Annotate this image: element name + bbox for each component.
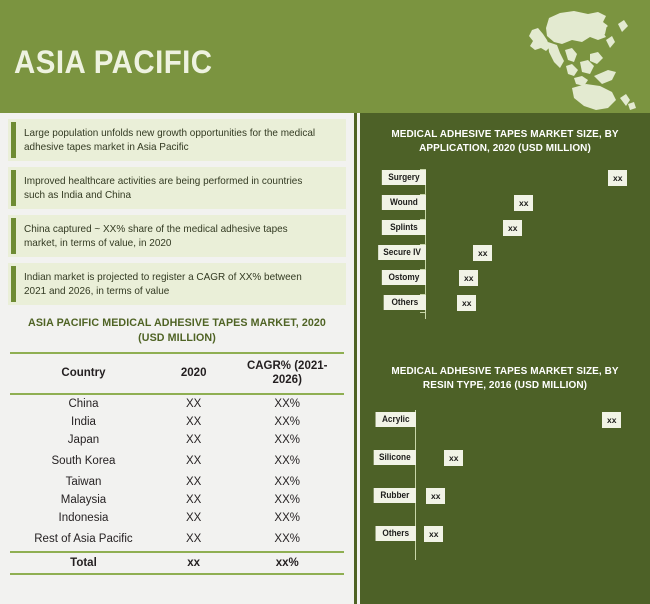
bar-track: xx <box>426 195 640 211</box>
bar-value-label: xx <box>602 412 621 428</box>
column-header-cagr: CAGR% (2021-2026) <box>230 353 344 394</box>
table-row: Malaysia XX XX% <box>10 491 344 509</box>
page-header: ASIA PACIFIC <box>0 0 650 113</box>
cell-2020: XX <box>157 527 230 552</box>
insight-bullet-text: China captured ~ XX% share of the medica… <box>24 222 320 250</box>
chart-by-application-title: MEDICAL ADHESIVE TAPES MARKET SIZE, BY A… <box>367 127 643 155</box>
insight-bullet: Improved healthcare activities are being… <box>8 167 346 209</box>
insight-bullet: China captured ~ XX% share of the medica… <box>8 215 346 257</box>
table-row: Rest of Asia Pacific XX XX% <box>10 527 344 552</box>
bar-row: Splints xx <box>370 219 640 237</box>
cell-cagr: XX% <box>230 431 344 449</box>
bar-category-label: Others <box>384 295 426 310</box>
insight-bullet: Indian market is projected to register a… <box>8 263 346 305</box>
table-row: China XX XX% <box>10 394 344 413</box>
market-table-title: ASIA PACIFIC MEDICAL ADHESIVE TAPES MARK… <box>15 311 339 352</box>
bar-category-label: Surgery <box>382 170 426 185</box>
chart-by-resin-type: MEDICAL ADHESIVE TAPES MARKET SIZE, BY R… <box>360 338 650 560</box>
bar-row: Silicone xx <box>370 448 640 468</box>
bar-value-label: xx <box>473 245 492 261</box>
table-header-row: Country 2020 CAGR% (2021-2026) <box>10 353 344 394</box>
cell-country: Indonesia <box>10 509 157 527</box>
insight-bullet: Large population unfolds new growth oppo… <box>8 119 346 161</box>
bar-track: xx <box>416 526 640 542</box>
table-row: South Korea XX XX% <box>10 449 344 473</box>
bar-row: Others xx <box>370 294 640 312</box>
asia-pacific-map-icon <box>502 4 642 112</box>
insight-bullets: Large population unfolds new growth oppo… <box>0 113 354 305</box>
bar-track: xx <box>426 270 640 286</box>
cell-2020: XX <box>157 473 230 491</box>
cell-total-label: Total <box>10 552 157 574</box>
cell-country: South Korea <box>10 449 157 473</box>
cell-total-cagr: xx% <box>230 552 344 574</box>
bar-row: Rubber xx <box>370 486 640 506</box>
infographic-page: ASIA PACIFIC <box>0 0 650 604</box>
table-row: Taiwan XX XX% <box>10 473 344 491</box>
cell-country: Malaysia <box>10 491 157 509</box>
bar-row: Ostomy xx <box>370 269 640 287</box>
bar-value-label: xx <box>608 170 627 186</box>
bar-category-label: Secure IV <box>378 245 426 260</box>
bar-value-label: xx <box>444 450 463 466</box>
chart-by-resin-type-title: MEDICAL ADHESIVE TAPES MARKET SIZE, BY R… <box>367 364 643 392</box>
cell-cagr: XX% <box>230 491 344 509</box>
insight-bullet-text: Improved healthcare activities are being… <box>24 174 320 202</box>
market-table-section: ASIA PACIFIC MEDICAL ADHESIVE TAPES MARK… <box>0 311 354 575</box>
bar-row: Surgery xx <box>370 169 640 187</box>
right-panel: MEDICAL ADHESIVE TAPES MARKET SIZE, BY A… <box>360 113 650 604</box>
bar-track: xx <box>426 245 640 261</box>
insight-bullet-text: Large population unfolds new growth oppo… <box>24 126 320 154</box>
cell-2020: XX <box>157 509 230 527</box>
cell-country: China <box>10 394 157 413</box>
bar-value-label: xx <box>514 195 533 211</box>
cell-cagr: XX% <box>230 509 344 527</box>
bar-category-label: Others <box>376 526 416 541</box>
cell-2020: XX <box>157 413 230 431</box>
cell-country: Rest of Asia Pacific <box>10 527 157 552</box>
bar-track: xx <box>416 450 640 466</box>
chart-by-application-plot: Surgery xx Wound xx Splint <box>370 169 640 319</box>
cell-total-2020: xx <box>157 552 230 574</box>
cell-country: India <box>10 413 157 431</box>
bar-category-label: Splints <box>382 220 426 235</box>
cell-cagr: XX% <box>230 473 344 491</box>
cell-2020: XX <box>157 449 230 473</box>
bar-row: Secure IV xx <box>370 244 640 262</box>
bar-category-label: Acrylic <box>376 412 416 427</box>
bar-track: xx <box>426 295 640 311</box>
table-body: China XX XX% India XX XX% Japan XX XX% <box>10 394 344 574</box>
cell-cagr: XX% <box>230 449 344 473</box>
cell-country: Taiwan <box>10 473 157 491</box>
left-panel: Large population unfolds new growth oppo… <box>0 113 357 604</box>
bar-value-label: xx <box>503 220 522 236</box>
bar-track: xx <box>426 170 640 186</box>
bar-category-label: Rubber <box>374 488 416 503</box>
bar-category-label: Silicone <box>374 450 416 465</box>
bar-row: Acrylic xx <box>370 410 640 430</box>
column-header-country: Country <box>10 353 157 394</box>
market-table: Country 2020 CAGR% (2021-2026) China XX … <box>10 352 344 575</box>
bar-value-label: xx <box>457 295 476 311</box>
bar-category-label: Ostomy <box>382 270 426 285</box>
page-title: ASIA PACIFIC <box>14 46 213 78</box>
table-row-total: Total xx xx% <box>10 552 344 574</box>
bar-row: Wound xx <box>370 194 640 212</box>
chart-by-resin-type-plot: Acrylic xx Silicone xx Rubber <box>370 410 640 560</box>
cell-2020: XX <box>157 491 230 509</box>
cell-country: Japan <box>10 431 157 449</box>
cell-2020: XX <box>157 394 230 413</box>
bar-track: xx <box>416 412 640 428</box>
cell-cagr: XX% <box>230 394 344 413</box>
insight-bullet-text: Indian market is projected to register a… <box>24 270 320 298</box>
bar-category-label: Wound <box>382 195 426 210</box>
column-header-2020: 2020 <box>157 353 230 394</box>
bar-value-label: xx <box>426 488 445 504</box>
bar-value-label: xx <box>459 270 478 286</box>
cell-cagr: XX% <box>230 527 344 552</box>
bar-row: Others xx <box>370 524 640 544</box>
table-row: Indonesia XX XX% <box>10 509 344 527</box>
bar-track: xx <box>426 220 640 236</box>
chart-by-application: MEDICAL ADHESIVE TAPES MARKET SIZE, BY A… <box>360 113 650 338</box>
bar-value-label: xx <box>424 526 443 542</box>
cell-2020: XX <box>157 431 230 449</box>
cell-cagr: XX% <box>230 413 344 431</box>
bar-track: xx <box>416 488 640 504</box>
table-row: India XX XX% <box>10 413 344 431</box>
axis-tick <box>420 312 425 313</box>
table-row: Japan XX XX% <box>10 431 344 449</box>
